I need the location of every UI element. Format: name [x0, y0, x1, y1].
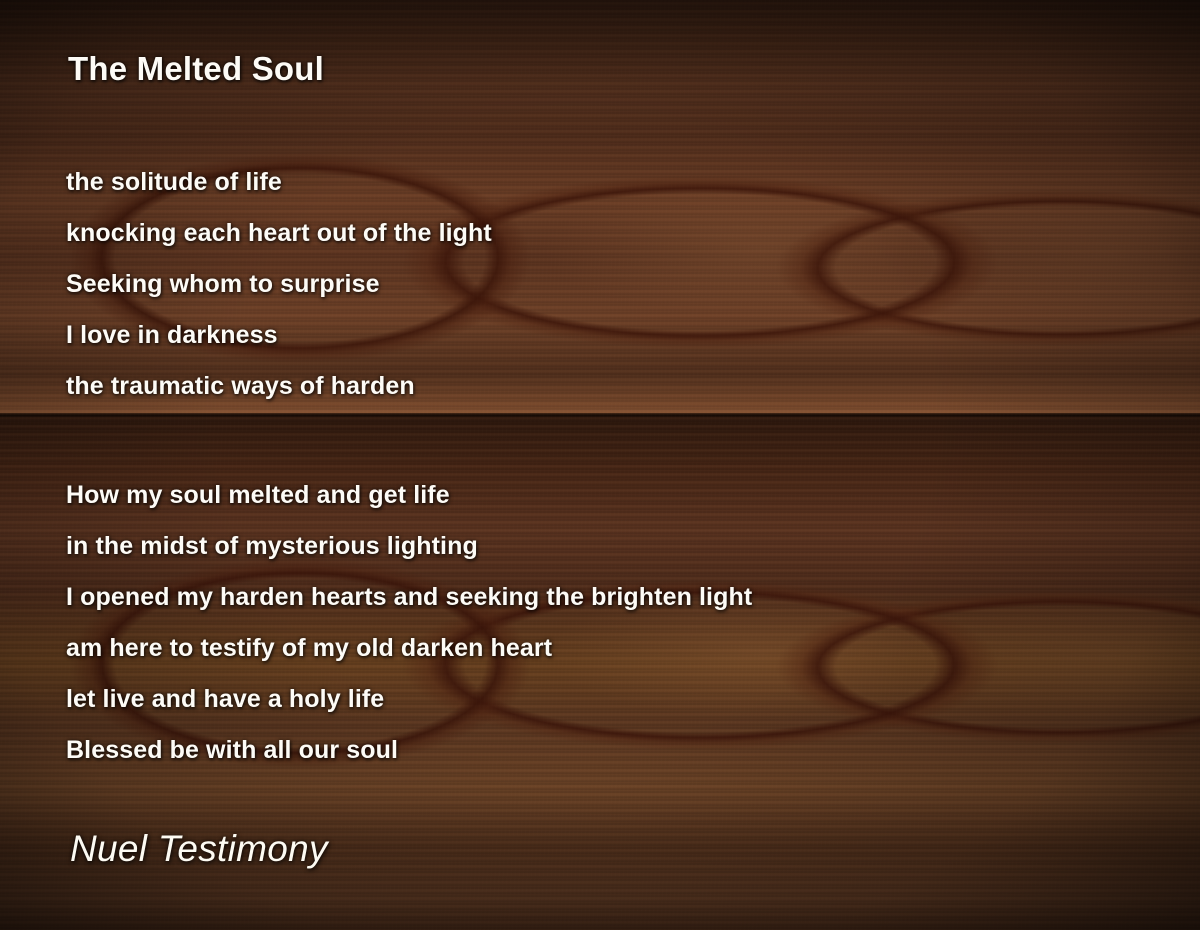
poem-line: knocking each heart out of the light — [66, 208, 492, 259]
poem-stanza-1: the solitude of life knocking each heart… — [66, 157, 492, 412]
poem-line: How my soul melted and get life — [66, 470, 752, 521]
poem-line: Blessed be with all our soul — [66, 725, 752, 776]
poem-line: let live and have a holy life — [66, 674, 752, 725]
poem-line: Seeking whom to surprise — [66, 259, 492, 310]
poem-line: in the midst of mysterious lighting — [66, 521, 752, 572]
poem-author-signature: Nuel Testimony — [70, 828, 328, 870]
poem-image-card: The Melted Soul the solitude of life kno… — [0, 0, 1200, 930]
poem-line: the traumatic ways of harden — [66, 361, 492, 412]
poem-line: I love in darkness — [66, 310, 492, 361]
poem-line: the solitude of life — [66, 157, 492, 208]
poem-line: am here to testify of my old darken hear… — [66, 623, 752, 674]
poem-stanza-2: How my soul melted and get life in the m… — [66, 470, 752, 776]
poem-line: I opened my harden hearts and seeking th… — [66, 572, 752, 623]
poem-content: The Melted Soul the solitude of life kno… — [0, 0, 1200, 930]
page-title: The Melted Soul — [68, 50, 324, 88]
